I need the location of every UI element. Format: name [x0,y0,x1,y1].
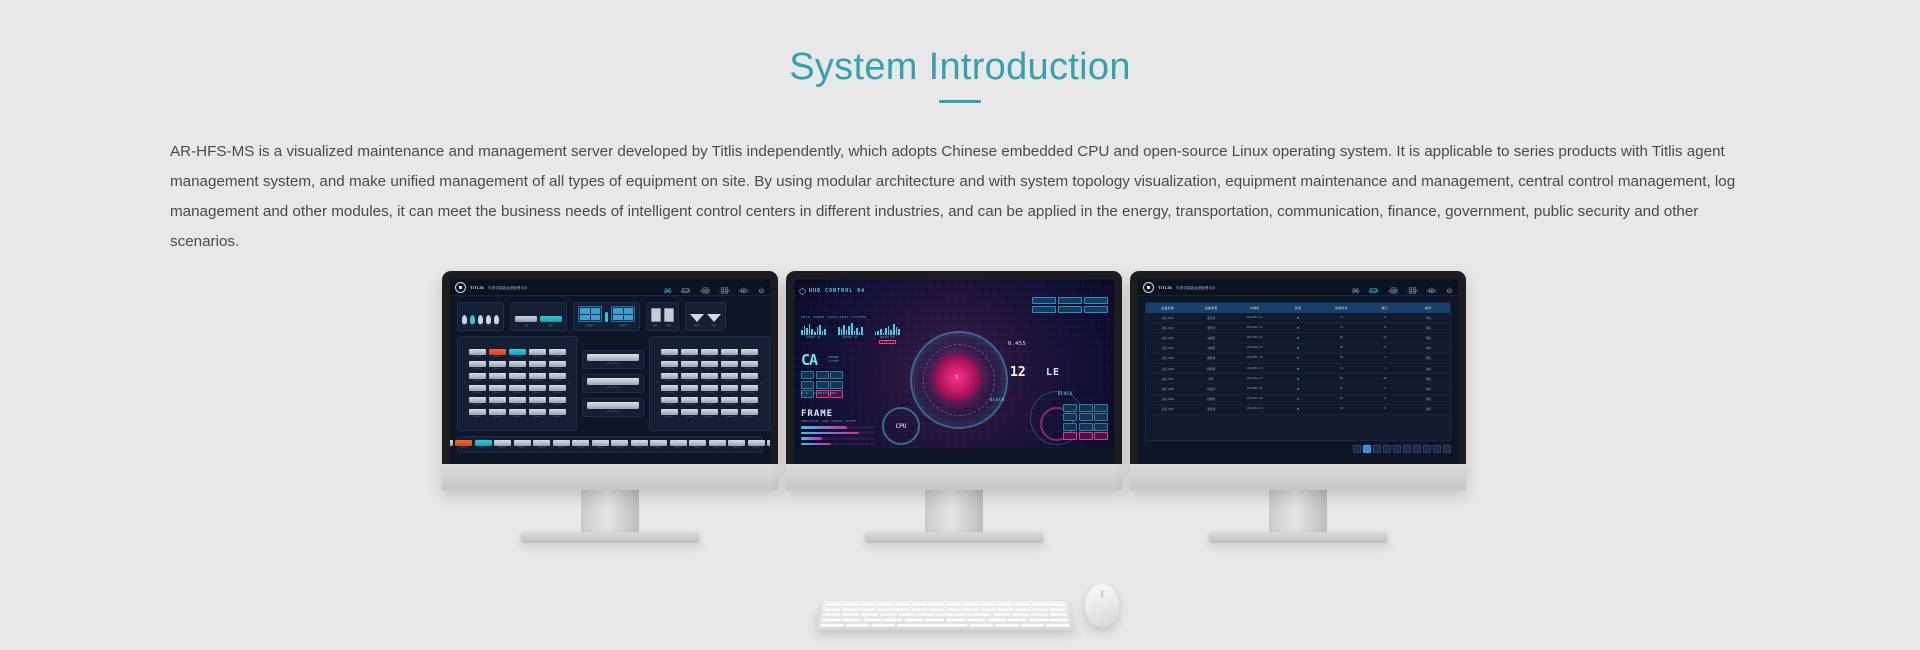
core-switch[interactable]: 核心交换机-01 [582,350,644,369]
bulb-label: A4 [487,325,490,327]
blade-item[interactable]: 机柜2 [664,308,674,327]
device-node-body [741,361,758,367]
device-node[interactable]: 节点-1205 [741,361,758,371]
matrix-icon [1409,281,1416,288]
device-node-label: 节点-1204 [725,367,734,370]
device-node[interactable]: 节点-1501 [661,397,678,407]
device-node[interactable]: 节点-0304 [529,373,546,383]
blade-item[interactable]: 机柜1 [651,308,661,327]
monitor-center: HUD CONTROL 04 SHIP POWER AUXILIARY SYST… [786,271,1122,543]
hud-key[interactable] [1079,404,1093,412]
hud-key-alert[interactable] [1094,432,1108,440]
device-node[interactable]: 节点-1603 [701,409,718,419]
monitor-left-chin [442,464,778,490]
table-cell[interactable]: 详情 [1407,364,1450,373]
hud-top-button[interactable] [1084,306,1108,313]
table-row[interactable]: 主机-0107矩阵192.168.1.17●5816详情 [1146,374,1450,384]
shield-icon [799,282,806,300]
device-node-label: 节点-0101 [473,355,482,358]
device-node[interactable]: 端口-02 [455,440,472,450]
device-node[interactable]: 端口-13 [670,440,687,450]
hud-dashboard: HUD CONTROL 04 SHIP POWER AUXILIARY SYST… [794,279,1114,448]
device-node[interactable]: 节点-1605 [741,409,758,419]
table-cell: 服务器 [1189,313,1232,322]
keyboard-row [824,608,1066,612]
device-node-label: 节点-0303 [513,379,522,382]
device-node[interactable]: 端口-16 [728,440,745,450]
table-cell[interactable]: 详情 [1407,405,1450,414]
wireless-keyboard[interactable] [816,601,1074,630]
device-node[interactable]: 节点-1505 [741,397,758,407]
bulb-item[interactable]: A1 [462,315,467,327]
device-node-body [529,349,546,355]
device-node[interactable]: 节点-0201 [469,361,486,371]
projector-item[interactable]: 投影2 [707,314,721,327]
hud-key[interactable] [816,371,829,379]
pagination-prev[interactable] [1353,445,1361,453]
hud-key[interactable] [816,381,829,389]
device-node-body [529,361,546,367]
app-logo-text: TITLIS [1158,285,1172,290]
table-cell[interactable]: 详情 [1407,333,1450,342]
device-node[interactable]: 端口-03 [475,440,492,450]
device-node-body [509,409,526,415]
hud-key-alert[interactable] [1079,432,1093,440]
device-node-body [661,409,678,415]
table-row[interactable]: 主机-0102服务器192.168.1.12●718详情 [1146,323,1450,333]
tool-log[interactable]: 日志管理 [719,281,729,293]
device-node-body [721,385,738,391]
device-node[interactable]: 节点-0401 [469,385,486,395]
pagination-page[interactable] [1423,445,1431,453]
topology-canvas: A1 A2 A3 A4 A5 主机 备机 拼接屏01 [450,296,770,459]
blade-group[interactable]: 机柜1 机柜2 [646,302,679,331]
device-node-label: 节点-1604 [725,415,734,418]
hud-slider[interactable] [801,432,875,435]
hud-secondary-dial: CPU [882,407,920,445]
device-node[interactable]: 节点-1102 [681,349,698,359]
device-node-label: 节点-0201 [473,367,482,370]
device-node-body [681,397,698,403]
hud-top-button[interactable] [1084,297,1108,304]
tool-exit[interactable]: 退出 [758,281,765,293]
device-node-body [489,349,506,355]
pagination-next[interactable] [1443,445,1451,453]
device-node[interactable]: 节点-1103 [701,349,718,359]
device-node-body [741,385,758,391]
hud-frame-sub: INDUSTRIAL CORE CONTROL SYSTEM [801,420,856,423]
device-node[interactable]: 节点-1504 [721,397,738,407]
device-node-label: 节点-0403 [513,391,522,394]
bulb-item[interactable]: A5 [494,315,499,327]
pagination-page[interactable] [1363,445,1371,453]
device-node[interactable]: 节点-0205 [549,361,566,371]
device-node-label: 节点-1404 [725,391,734,394]
tool-exit[interactable]: 退出 [1446,281,1453,293]
device-node-body [549,373,566,379]
device-node[interactable]: 节点-1602 [681,409,698,419]
device-node-body [509,361,526,367]
bulb-item[interactable]: A2 [470,315,475,327]
device-node[interactable]: 节点-0105 [549,349,566,359]
table-cell[interactable]: 详情 [1407,374,1450,383]
table-cell: 69 [1320,333,1363,342]
device-node-label: 端口-13 [675,446,682,449]
tool-device[interactable]: 设备管理 [1369,281,1379,293]
app-title: 可视化智能运维管理平台 [1176,285,1216,290]
device-node[interactable]: 节点-1305 [741,373,758,383]
hud-top-button[interactable] [1032,306,1056,313]
device-node[interactable]: 端口-09 [592,440,609,450]
device-node[interactable]: 节点-1604 [721,409,738,419]
table-row[interactable]: 主机-0108拼接屏192.168.1.18●552详情 [1146,384,1450,394]
hud-key[interactable] [830,381,843,389]
device-node-label: 节点-1303 [705,379,714,382]
table-column-header[interactable]: 操作 [1407,303,1450,313]
device-node-body [489,397,506,403]
device-node-label: 节点-0502 [493,403,502,406]
device-node-label: 节点-1405 [745,391,754,394]
device-node-label: 节点-0401 [473,391,482,394]
pagination-page[interactable] [1373,445,1381,453]
tool-log[interactable]: 日志管理 [1407,281,1417,293]
screen-group[interactable]: 拼接屏01 拼接屏02 [573,302,640,331]
device-node[interactable]: 端口-10 [611,440,628,450]
table-cell: 192.168.1.19 [1233,395,1276,404]
hud-bar-block: OUTPUT 03ALARM 03 [875,323,900,344]
table-column-header[interactable]: 设备类型 [1189,303,1232,313]
tool-device[interactable]: 设备管理 [681,281,691,293]
table-header-row: 设备名称设备类型IP地址状态在线时长端口操作 [1146,303,1450,313]
table-column-header[interactable]: 设备名称 [1146,303,1189,313]
monitor-center-bezel: HUD CONTROL 04 SHIP POWER AUXILIARY SYST… [786,271,1122,490]
monitor-center-neck [925,490,983,532]
hud-key[interactable] [1079,423,1093,431]
device-node[interactable]: 端口-04 [494,440,511,450]
table-cell: 交换机 [1189,344,1232,353]
device-node[interactable]: 节点-0104 [529,349,546,359]
device-node[interactable]: 节点-0601 [469,409,486,419]
device-node[interactable]: 节点-0604 [529,409,546,419]
device-node[interactable]: 节点-0103 [509,349,526,359]
device-node-body [489,361,506,367]
device-node[interactable]: 节点-1502 [681,397,698,407]
device-node-label: 节点-0304 [533,379,542,382]
device-node[interactable]: 端口-17 [748,440,765,450]
server-label: 备机 [549,323,553,327]
device-node[interactable]: 节点-1302 [681,373,698,383]
device-node[interactable]: 节点-1201 [661,361,678,371]
table-cell[interactable]: 详情 [1407,354,1450,363]
hud-key[interactable] [830,371,843,379]
device-node[interactable]: 节点-1101 [661,349,678,359]
projector-item[interactable]: 投影1 [690,314,704,327]
bulb-group[interactable]: A1 A2 A3 A4 A5 [457,302,504,331]
table-cell: 主机-0104 [1146,344,1189,353]
device-node-label: 节点-0103 [513,355,522,358]
screen-item[interactable]: 拼接屏01 [578,306,602,327]
device-node-label: 节点-0301 [473,379,482,382]
device-node[interactable]: 端口-05 [514,440,531,450]
device-node[interactable]: 端口-15 [709,440,726,450]
device-node-body [721,373,738,379]
page-title: System Introduction [0,0,1920,86]
core-switch-column: 核心交换机-01核心交换机-02核心交换机-03 [582,336,644,431]
pagination-page[interactable] [1383,445,1391,453]
rack-right-cells: 节点-1101节点-1102节点-1103节点-1104节点-1105节点-12… [661,349,758,419]
hud-top-buttons[interactable] [1032,297,1108,313]
table-row[interactable]: 主机-0104交换机192.168.1.14●6624详情 [1146,344,1450,354]
device-node[interactable]: 端口-07 [553,440,570,450]
bulb-item[interactable]: A3 [478,315,483,327]
device-node[interactable]: 端口-08 [572,440,589,450]
device-node-label: 节点-0202 [493,367,502,370]
device-node[interactable]: 端口-14 [689,440,706,450]
hud-key[interactable] [1063,404,1077,412]
device-node[interactable]: 节点-0402 [489,385,506,395]
table-cell: 72 [1320,313,1363,322]
table-cell[interactable]: 详情 [1407,344,1450,353]
table-cell: 控制器 [1189,395,1232,404]
device-node[interactable]: 端口-06 [533,440,550,450]
hud-keypad-right[interactable] [1063,404,1108,441]
device-node-label: 节点-1403 [705,391,714,394]
pagination-page[interactable] [1403,445,1411,453]
tool-central[interactable]: 中控管理 [1388,281,1398,293]
hud-slider[interactable] [801,437,875,440]
table-row[interactable]: 主机-0103交换机192.168.1.13●6924详情 [1146,333,1450,343]
hud-key[interactable] [1079,413,1093,421]
device-node-label: 节点-0405 [553,391,562,394]
pagination[interactable] [1145,445,1451,453]
device-node-body [741,349,758,355]
table-cell[interactable]: 详情 [1407,384,1450,393]
hud-big-sub-2: SYSTEM [828,359,839,363]
tool-topology[interactable]: 拓扑图 [664,281,672,293]
rack-next-arrow[interactable]: › [569,380,571,386]
device-node-body [701,397,718,403]
device-node[interactable]: 节点-1104 [721,349,738,359]
rack-prev-arrow[interactable]: ‹ [656,380,658,386]
device-node-label: 节点-0501 [473,403,482,406]
device-node[interactable]: 节点-0301 [469,373,486,383]
tool-settings[interactable]: 系统设置 [739,281,749,293]
hud-key[interactable] [1094,413,1108,421]
hud-core-gauge: 6 [934,355,980,401]
tool-central[interactable]: 中控管理 [700,281,710,293]
device-node[interactable]: 节点-1303 [701,373,718,383]
device-node[interactable]: 节点-0404 [529,385,546,395]
device-node-label: 端口-08 [577,446,584,449]
device-node-body [494,440,511,446]
appbar-tools: 拓扑图 设备管理 [1352,281,1453,293]
core-switch[interactable]: 核心交换机-03 [582,398,644,417]
device-node-label: 端口-12 [655,446,662,449]
device-node[interactable]: 节点-0502 [489,397,506,407]
table-cell[interactable]: 详情 [1407,395,1450,404]
device-node-label: 节点-1402 [685,391,694,394]
device-node[interactable]: 节点-1402 [681,385,698,395]
device-node[interactable]: 端口-18 [767,440,770,450]
hud-key-alert[interactable] [1063,432,1077,440]
device-node[interactable]: 端口-11 [631,440,648,450]
device-node-body [450,440,453,446]
table-cell: 8 [1363,405,1406,414]
device-node-body [469,349,486,355]
device-node-body [553,440,570,446]
device-node-body [533,440,550,446]
device-node[interactable]: 节点-1203 [701,361,718,371]
device-node[interactable]: 节点-1301 [661,373,678,383]
hud-bar-blocks: OUTPUT 01OUTPUT 02OUTPUT 03ALARM 03 [801,323,900,344]
device-node[interactable]: 节点-0202 [489,361,506,371]
rack-prev-arrow[interactable]: ‹ [464,380,466,386]
status-badge: ● [1276,364,1319,373]
table-row[interactable]: 主机-0106解码器192.168.1.16●614详情 [1146,364,1450,374]
table-cell: 8 [1363,323,1406,332]
table-cell: 主机-0101 [1146,313,1189,322]
tool-topology[interactable]: 拓扑图 [1352,281,1360,293]
hud-frame-label: FRAME [801,409,833,419]
table-row[interactable]: 主机-0105编码器192.168.1.15●644详情 [1146,354,1450,364]
device-node[interactable]: 节点-1405 [741,385,758,395]
table-row[interactable]: 主机-0110服务器192.168.1.20●488详情 [1146,405,1450,415]
device-node[interactable]: 节点-1304 [721,373,738,383]
monitor-left-screen: TITLIS 可视化智能运维管理平台 拓扑图 [450,279,770,464]
device-node[interactable]: 节点-0101 [469,349,486,359]
hud-top-button[interactable] [1032,297,1056,304]
pagination-page[interactable] [1413,445,1421,453]
device-node[interactable]: 节点-0203 [509,361,526,371]
hud-slider[interactable] [801,443,875,446]
device-node[interactable]: 节点-1404 [721,385,738,395]
hud-le-label: LE [1046,367,1060,378]
device-node[interactable]: 节点-1403 [701,385,718,395]
device-node[interactable]: 节点-0204 [529,361,546,371]
device-node[interactable]: 节点-0405 [549,385,566,395]
device-node[interactable]: 节点-0303 [509,373,526,383]
gear-icon [1428,281,1435,288]
device-node[interactable]: 端口-01 [450,440,453,450]
device-node[interactable]: 节点-1202 [681,361,698,371]
table-cell: 16 [1363,374,1406,383]
device-node-body [529,373,546,379]
device-node[interactable]: 节点-1601 [661,409,678,419]
screen-item[interactable]: 拼接屏02 [611,306,635,327]
table-cell: 4 [1363,354,1406,363]
hud-secondary-value: CPU [884,409,918,443]
hud-key[interactable] [1063,413,1077,421]
tool-settings[interactable]: 系统设置 [1427,281,1437,293]
table-column-header[interactable]: 状态 [1276,303,1319,313]
device-node-label: 节点-1205 [745,367,754,370]
device-node-label: 端口-06 [538,446,545,449]
device-node[interactable]: 节点-0603 [509,409,526,419]
device-node-label: 端口-15 [714,446,721,449]
appbar-tools: 拓扑图 设备管理 [664,281,765,293]
monitor-left-bezel: TITLIS 可视化智能运维管理平台 拓扑图 [442,271,778,490]
monitor-left-neck [581,490,639,532]
hud-slider[interactable] [801,426,875,429]
device-node-label: 节点-0605 [553,415,562,418]
device-node[interactable]: 节点-0605 [549,409,566,419]
bulb-item[interactable]: A4 [486,315,491,327]
device-node[interactable]: 端口-12 [650,440,667,450]
device-node[interactable]: 节点-1204 [721,361,738,371]
device-node-label: 端口-03 [480,446,487,449]
device-node[interactable]: 节点-0305 [549,373,566,383]
table-column-header[interactable]: IP地址 [1233,303,1276,313]
title-underline [939,100,981,103]
monitor-center-chin [786,464,1122,490]
table-cell: 61 [1320,364,1363,373]
table-row[interactable]: 主机-0109控制器192.168.1.19●516详情 [1146,395,1450,405]
rack-next-arrow[interactable]: › [761,380,763,386]
hud-key[interactable] [1094,404,1108,412]
device-node-body [701,373,718,379]
table-cell: 48 [1320,405,1363,414]
projector-group[interactable]: 投影1 投影2 [685,302,726,331]
device-node[interactable]: 节点-0403 [509,385,526,395]
table-row[interactable]: 主机-0101服务器192.168.1.11●728详情 [1146,313,1450,323]
device-node[interactable]: 节点-1105 [741,349,758,359]
device-node-body [529,409,546,415]
table-cell: 主机-0109 [1146,395,1189,404]
device-node[interactable]: 节点-0501 [469,397,486,407]
table-column-header[interactable]: 端口 [1363,303,1406,313]
pagination-page[interactable] [1393,445,1401,453]
device-node-body [701,409,718,415]
device-node[interactable]: 节点-1503 [701,397,718,407]
hud-key[interactable] [1063,423,1077,431]
server-item[interactable]: 备机 [540,316,562,327]
hud-key[interactable] [1094,423,1108,431]
core-switch[interactable]: 核心交换机-02 [582,374,644,393]
device-node-label: 节点-1505 [745,403,754,406]
device-node[interactable]: 节点-1401 [661,385,678,395]
device-node-body [661,361,678,367]
server-group[interactable]: 主机 备机 [510,302,567,331]
device-node-body [681,361,698,367]
monitor-icon [1370,281,1377,288]
device-node-label: 节点-1301 [665,379,674,382]
device-node[interactable]: 节点-0505 [549,397,566,407]
hud-top-code: HUD CONTROL 04 [809,288,865,294]
device-node[interactable]: 节点-0504 [529,397,546,407]
server-item[interactable]: 主机 [515,316,537,327]
device-node[interactable]: 节点-0602 [489,409,506,419]
device-node-body [650,440,667,446]
device-node-body [469,373,486,379]
pagination-page[interactable] [1433,445,1441,453]
hud-top-button[interactable] [1058,297,1082,304]
hud-top-button[interactable] [1058,306,1082,313]
hud-key[interactable] [801,381,814,389]
device-node[interactable]: 节点-0102 [489,349,506,359]
table-cell[interactable]: 详情 [1407,323,1450,332]
device-node[interactable]: 节点-0503 [509,397,526,407]
hud-key[interactable] [801,371,814,379]
wireless-mouse[interactable] [1084,584,1119,627]
device-node-label: 节点-1503 [705,403,714,406]
table-column-header[interactable]: 在线时长 [1320,303,1363,313]
table-cell[interactable]: 详情 [1407,313,1450,322]
table-cell: 交换机 [1189,333,1232,342]
hud-bar-series [875,323,900,335]
device-node-label: 端口-04 [499,446,506,449]
hud-number-12: 12 [1010,365,1026,380]
device-node[interactable]: 节点-0302 [489,373,506,383]
